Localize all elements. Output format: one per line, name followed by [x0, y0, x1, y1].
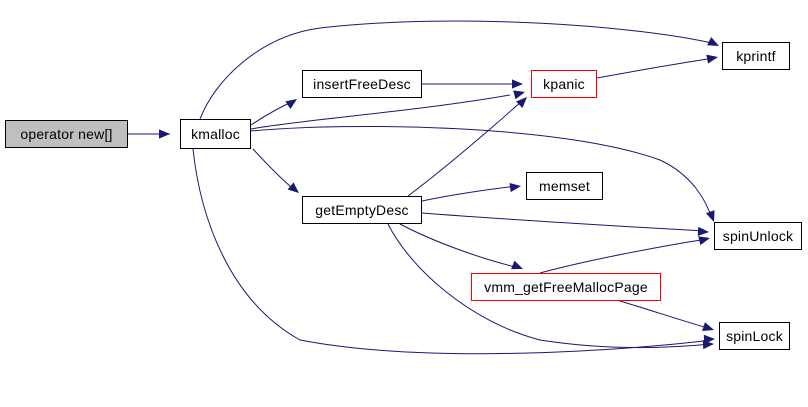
graph-node-label: spinLock — [726, 329, 783, 343]
graph-node-label: operator new[] — [20, 127, 112, 141]
graph-node-getEmptyDesc[interactable]: getEmptyDesc — [302, 196, 422, 224]
arrow-head-icon — [702, 322, 715, 334]
call-edge — [253, 149, 296, 191]
call-edge — [620, 301, 711, 329]
graph-node-operator-new[interactable]: operator new[] — [5, 120, 128, 148]
graph-node-insertFreeDesc[interactable]: insertFreeDesc — [302, 70, 422, 98]
graph-node-vmm-getFreeMallocPage[interactable]: vmm_getFreeMallocPage — [471, 273, 661, 301]
arrow-head-icon — [698, 234, 711, 246]
graph-node-kprintf[interactable]: kprintf — [722, 42, 790, 70]
call-edge — [193, 149, 712, 354]
graph-node-label: kpanic — [543, 77, 585, 91]
arrow-head-icon — [698, 227, 709, 237]
graph-node-memset[interactable]: memset — [526, 172, 603, 200]
call-edge — [251, 95, 510, 129]
call-graph-canvas: operator new[]kmallocinsertFreeDesckpani… — [0, 0, 808, 407]
graph-node-label: kmalloc — [191, 127, 240, 141]
call-edge — [422, 213, 706, 231]
call-edge — [408, 99, 524, 196]
arrow-head-icon — [707, 37, 721, 50]
graph-node-label: kprintf — [736, 49, 776, 63]
graph-node-spinLock[interactable]: spinLock — [719, 322, 790, 350]
arrow-head-icon — [512, 79, 523, 88]
arrow-head-icon — [285, 95, 299, 109]
graph-node-kmalloc[interactable]: kmalloc — [180, 119, 251, 149]
arrow-head-icon — [511, 261, 525, 274]
call-edge — [422, 186, 518, 201]
call-edge — [597, 58, 714, 78]
graph-node-label: getEmptyDesc — [315, 203, 408, 217]
arrow-head-icon — [509, 181, 521, 192]
arrow-head-icon — [513, 88, 526, 100]
arrow-head-icon — [288, 182, 302, 196]
call-edge — [400, 224, 520, 268]
graph-node-label: memset — [539, 179, 590, 193]
arrow-head-icon — [159, 129, 170, 138]
graph-node-label: vmm_getFreeMallocPage — [484, 280, 648, 294]
call-edge — [540, 239, 707, 273]
graph-node-spinUnlock[interactable]: spinUnlock — [714, 222, 802, 250]
graph-node-label: spinUnlock — [723, 229, 793, 243]
arrow-head-icon — [706, 52, 719, 63]
graph-node-label: insertFreeDesc — [313, 77, 411, 91]
graph-node-kpanic[interactable]: kpanic — [531, 70, 597, 98]
